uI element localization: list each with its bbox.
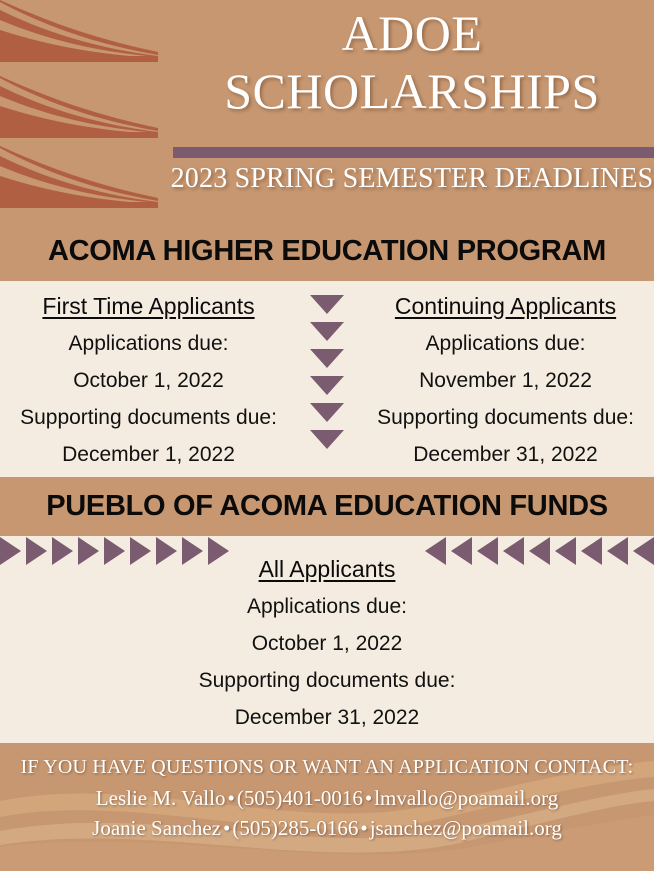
- column-heading: Continuing Applicants: [357, 293, 654, 321]
- triangle-left-icon: [451, 537, 472, 565]
- triangle-left-icon: [555, 537, 576, 565]
- poster-subtitle: 2023 SPRING SEMESTER DEADLINES: [170, 163, 654, 195]
- separator-bullet: •: [363, 786, 374, 810]
- deadline-line: December 1, 2022: [0, 442, 297, 468]
- left-arrow-strip: [0, 536, 234, 566]
- footer-content: IF YOU HAVE QUESTIONS OR WANT AN APPLICA…: [0, 743, 654, 846]
- triangle-left-icon: [425, 537, 446, 565]
- triangle-down-icon: [310, 295, 344, 314]
- section-education-funds-content: All Applicants Applications due: October…: [0, 536, 654, 743]
- contact-name: Joanie Sanchez: [92, 816, 221, 840]
- contact-row: Joanie Sanchez•(505)285-0166•jsanchez@po…: [0, 816, 654, 841]
- column-first-time-applicants: First Time Applicants Applications due: …: [0, 281, 297, 477]
- triangle-left-icon: [633, 537, 654, 565]
- triangle-left-icon: [503, 537, 524, 565]
- deadline-line: October 1, 2022: [0, 631, 654, 657]
- triangle-right-icon: [208, 537, 229, 565]
- triangle-right-icon: [130, 537, 151, 565]
- column-heading: First Time Applicants: [0, 293, 297, 321]
- triangle-down-icon: [310, 349, 344, 368]
- poster-title: ADOE SCHOLARSHIPS: [170, 8, 654, 116]
- triangle-left-icon: [529, 537, 550, 565]
- column-continuing-applicants: Continuing Applicants Applications due: …: [357, 281, 654, 477]
- scholarship-flyer: ADOE SCHOLARSHIPS 2023 SPRING SEMESTER D…: [0, 0, 654, 871]
- triangle-right-icon: [26, 537, 47, 565]
- triangle-down-icon: [310, 403, 344, 422]
- contact-email[interactable]: lmvallo@poamail.org: [374, 786, 558, 810]
- column-divider-arrows: [297, 281, 357, 477]
- separator-bullet: •: [221, 816, 232, 840]
- contact-name: Leslie M. Vallo: [96, 786, 226, 810]
- triangle-down-icon: [310, 376, 344, 395]
- triangle-down-icon: [310, 430, 344, 449]
- triangle-left-icon: [581, 537, 602, 565]
- triangle-left-icon: [607, 537, 628, 565]
- swoosh-icon: [0, 146, 158, 214]
- deadline-columns: First Time Applicants Applications due: …: [0, 281, 654, 477]
- contact-phone[interactable]: (505)285-0166: [232, 816, 358, 840]
- triangle-right-icon: [104, 537, 125, 565]
- deadline-line: November 1, 2022: [357, 368, 654, 394]
- swoosh-icon: [0, 0, 158, 68]
- all-applicants-block: All Applicants Applications due: October…: [0, 556, 654, 743]
- contact-email[interactable]: jsanchez@poamail.org: [370, 816, 562, 840]
- banner-label: ACOMA HIGHER EDUCATION PROGRAM: [48, 235, 606, 268]
- contact-row: Leslie M. Vallo•(505)401-0016•lmvallo@po…: [0, 786, 654, 811]
- right-arrow-strip: [420, 536, 654, 566]
- deadline-line: October 1, 2022: [0, 368, 297, 394]
- deadline-line: Supporting documents due:: [0, 668, 654, 694]
- corner-swoosh-decoration: [0, 0, 158, 212]
- triangle-right-icon: [52, 537, 73, 565]
- footer-heading: IF YOU HAVE QUESTIONS OR WANT AN APPLICA…: [0, 756, 654, 779]
- section-higher-education-content: First Time Applicants Applications due: …: [0, 281, 654, 477]
- swoosh-icon: [0, 76, 158, 144]
- separator-bullet: •: [358, 816, 369, 840]
- deadline-line: Supporting documents due:: [0, 405, 297, 431]
- triangle-down-icon: [310, 322, 344, 341]
- deadline-line: Supporting documents due:: [357, 405, 654, 431]
- section-banner-higher-education: ACOMA HIGHER EDUCATION PROGRAM: [0, 222, 654, 281]
- deadline-line: December 31, 2022: [0, 705, 654, 731]
- poster-footer: IF YOU HAVE QUESTIONS OR WANT AN APPLICA…: [0, 743, 654, 871]
- deadline-line: December 31, 2022: [357, 442, 654, 468]
- deadline-line: Applications due:: [357, 331, 654, 357]
- title-divider-bar: [173, 147, 654, 158]
- triangle-right-icon: [182, 537, 203, 565]
- poster-header: ADOE SCHOLARSHIPS 2023 SPRING SEMESTER D…: [0, 0, 654, 222]
- section-banner-education-funds: PUEBLO OF ACOMA EDUCATION FUNDS: [0, 477, 654, 536]
- triangle-left-icon: [477, 537, 498, 565]
- triangle-right-icon: [156, 537, 177, 565]
- deadline-line: Applications due:: [0, 594, 654, 620]
- deadline-line: Applications due:: [0, 331, 297, 357]
- title-line-2: SCHOLARSHIPS: [170, 66, 654, 116]
- triangle-right-icon: [78, 537, 99, 565]
- separator-bullet: •: [225, 786, 236, 810]
- banner-label: PUEBLO OF ACOMA EDUCATION FUNDS: [46, 490, 608, 523]
- contact-phone[interactable]: (505)401-0016: [237, 786, 363, 810]
- triangle-right-icon: [0, 537, 21, 565]
- title-line-1: ADOE: [170, 8, 654, 58]
